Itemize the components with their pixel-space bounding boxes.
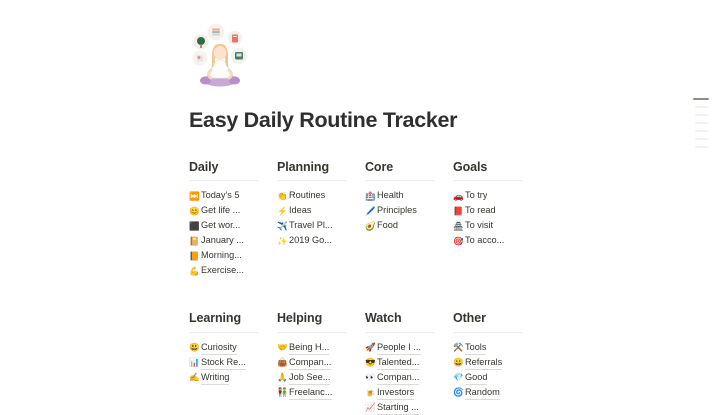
list-item[interactable]: ⬛Get wor... [189,218,277,233]
car-icon: 🚗 [453,192,465,201]
list-item[interactable]: ✍️Writing [189,370,277,385]
notion-page: Easy Daily Routine Tracker Daily ⏭️Today… [189,0,589,415]
column-divider [365,180,435,181]
gem-icon: 💎 [453,373,465,382]
column-title-other: Other [453,311,541,332]
column-title-daily: Daily [189,160,277,181]
list-item-label: Morning... [201,248,242,263]
bullseye-icon: 🎯 [453,237,465,246]
list-item-label: To acco... [465,233,504,248]
column-grid-row-1: Daily ⏭️Today's 5 😊Get life ... ⬛Get wor… [189,160,589,279]
clapping-hands-icon: 👏 [277,192,289,201]
orange-book-icon: 📙 [189,252,201,261]
eyes-icon: 👀 [365,373,377,382]
column-daily: Daily ⏭️Today's 5 😊Get life ... ⬛Get wor… [189,160,277,279]
next-track-icon: ⏭️ [189,192,201,201]
list-item-label: Freelanc... [289,385,332,400]
black-square-icon: ⬛ [189,222,201,231]
hammer-and-pick-icon: ⚒️ [453,343,465,352]
list-item[interactable]: 👫Freelanc... [277,385,365,400]
list-item-label: Health [377,188,404,203]
flexed-biceps-icon: 💪 [189,267,201,276]
column-title-helping: Helping [277,311,365,332]
list-item[interactable]: 📕To read [453,203,541,218]
list-item-label: Today's 5 [201,188,240,203]
list-item[interactable]: 🏯To visit [453,218,541,233]
list-item[interactable]: 🎯To acco... [453,233,541,248]
list-item-label: Writing [201,370,229,385]
cyclone-icon: 🌀 [453,388,465,397]
list-item[interactable]: 🚗To try [453,188,541,203]
list-item-label: To read [465,203,496,218]
list-item[interactable]: 🙏Job See... [277,370,365,385]
minimap-bar[interactable] [695,130,709,132]
rocket-icon: 🚀 [365,343,377,352]
handshake-icon: 🤝 [277,343,289,352]
list-item[interactable]: 🚀People I ... [365,340,453,355]
list-item-label: Job See... [289,370,330,385]
minimap-bar[interactable] [695,122,709,124]
list-item[interactable]: ⏭️Today's 5 [189,188,277,203]
list-item[interactable]: 📔January ... [189,233,277,248]
list-item-label: Get life ... [201,203,240,218]
hospital-icon: 🏥 [365,192,377,201]
meditating-person-illustration [192,20,258,88]
avocado-icon: 🥑 [365,222,377,231]
list-item-label: Routines [289,188,325,203]
list-item[interactable]: ⚒️Tools [453,340,541,355]
list-item[interactable]: 🤝Being H... [277,340,365,355]
red-book-icon: 📕 [453,207,465,216]
list-item[interactable]: 💎Good [453,370,541,385]
column-title-planning: Planning [277,160,365,181]
list-item-label: People I ... [377,340,421,355]
list-item[interactable]: 💪Exercise... [189,263,277,278]
list-item[interactable]: 😎Talented... [365,355,453,370]
list-item[interactable]: 🥑Food [365,218,453,233]
list-item-label: To visit [465,218,493,233]
minimap-bar[interactable] [695,114,709,116]
smiling-face-icon: 😊 [189,207,201,216]
folded-hands-icon: 🙏 [277,373,289,382]
column-title-watch: Watch [365,311,453,332]
list-item-label: Good [465,370,487,385]
list-item[interactable]: 👀Compan... [365,370,453,385]
list-item-label: To try [465,188,487,203]
list-item[interactable]: ✈️Travel Pl... [277,218,365,233]
sparkles-icon: ✨ [277,237,289,246]
minimap-bar-active[interactable] [693,98,709,100]
list-item-label: Random [465,385,500,400]
list-item[interactable]: 📈Starting ... [365,400,453,415]
handbag-icon: 👜 [277,358,289,367]
lightning-bolt-icon: ⚡ [277,207,289,216]
list-item[interactable]: 📊Stock Re... [189,355,277,370]
list-item[interactable]: 👏Routines [277,188,365,203]
column-divider [277,180,347,181]
list-item-label: Ideas [289,203,311,218]
grinning-face-icon: 😃 [189,343,201,352]
beer-icon: 🍺 [365,388,377,397]
list-item-label: Compan... [289,355,331,370]
list-item-label: Tools [465,340,486,355]
page-outline-minimap[interactable] [687,98,709,148]
pen-icon: 🖊️ [365,207,377,216]
list-item-label: Food [377,218,398,233]
list-item-label: Compan... [377,370,419,385]
grinning-face-icon: 😀 [453,358,465,367]
list-item[interactable]: 🖊️Principles [365,203,453,218]
minimap-bar[interactable] [695,146,709,148]
notebook-icon: 📔 [189,237,201,246]
writing-hand-icon: ✍️ [189,373,201,382]
list-item[interactable]: 👜Compan... [277,355,365,370]
column-divider [189,332,259,333]
list-item-label: Get wor... [201,218,240,233]
page-title: Easy Daily Routine Tracker [189,108,589,134]
list-item-label: Talented... [377,355,419,370]
column-helping: Helping 🤝Being H... 👜Compan... 🙏Job See.… [277,311,365,415]
column-divider [453,180,523,181]
list-item[interactable]: ⚡Ideas [277,203,365,218]
list-item-label: Referrals [465,355,502,370]
list-item-label: Principles [377,203,417,218]
minimap-bar[interactable] [695,138,709,140]
list-item-label: 2019 Go... [289,233,332,248]
people-icon: 👫 [277,388,289,397]
column-divider [189,180,259,181]
list-item[interactable]: 😀Referrals [453,355,541,370]
list-item[interactable]: 🍺Investors [365,385,453,400]
list-item[interactable]: 😊Get life ... [189,203,277,218]
list-item-label: Starting ... [377,400,419,415]
column-planning: Planning 👏Routines ⚡Ideas ✈️Travel Pl...… [277,160,365,279]
column-watch: Watch 🚀People I ... 😎Talented... 👀Compan… [365,311,453,415]
airplane-icon: ✈️ [277,222,289,231]
column-core: Core 🏥Health 🖊️Principles 🥑Food [365,160,453,279]
column-divider [365,332,435,333]
list-item-label: January ... [201,233,244,248]
list-item-label: Being H... [289,340,329,355]
column-title-learning: Learning [189,311,277,332]
list-item-label: Travel Pl... [289,218,333,233]
column-title-core: Core [365,160,453,181]
column-grid-row-2: Learning 😃Curiosity 📊Stock Re... ✍️Writi… [189,311,589,415]
list-item[interactable]: 😃Curiosity [189,340,277,355]
japanese-castle-icon: 🏯 [453,222,465,231]
column-goals: Goals 🚗To try 📕To read 🏯To visit 🎯To acc… [453,160,541,279]
column-divider [277,332,347,333]
list-item-label: Exercise... [201,263,244,278]
column-title-goals: Goals [453,160,541,181]
column-learning: Learning 😃Curiosity 📊Stock Re... ✍️Writi… [189,311,277,415]
chart-increasing-icon: 📈 [365,403,377,412]
list-item-label: Curiosity [201,340,237,355]
column-other: Other ⚒️Tools 😀Referrals 💎Good 🌀Random [453,311,541,415]
list-item[interactable]: 🌀Random [453,385,541,400]
bar-chart-icon: 📊 [189,358,201,367]
list-item-label: Stock Re... [201,355,246,370]
column-divider [453,332,523,333]
list-item[interactable]: 📙Morning... [189,248,277,263]
list-item[interactable]: 🏥Health [365,188,453,203]
list-item-label: Investors [377,385,414,400]
sunglasses-face-icon: 😎 [365,358,377,367]
list-item[interactable]: ✨2019 Go... [277,233,365,248]
minimap-bar[interactable] [695,106,709,108]
